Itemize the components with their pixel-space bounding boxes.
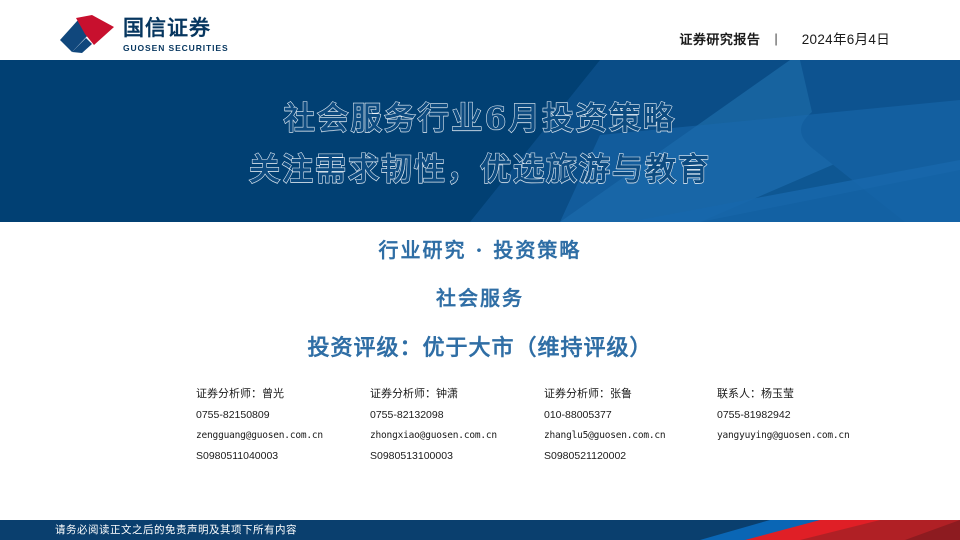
investment-rating-label: 投资评级：优于大市（维持评级） <box>0 330 960 362</box>
report-date: 2024年6月4日 <box>802 28 890 48</box>
page-footer: 请务必阅读正文之后的免责声明及其项下所有内容 <box>0 520 960 540</box>
header-meta: 证券研究报告 | 2024年6月4日 <box>679 28 890 48</box>
brand-logo: 国信证券 GUOSEN SECURITIES <box>58 14 229 54</box>
research-category-line: 行业研究 · 投资策略 <box>0 234 960 263</box>
analyst-email[interactable]: zhanglu5@guosen.com.cn <box>544 430 717 441</box>
analyst-phone: 0755-82150809 <box>196 409 370 421</box>
contact-email[interactable]: yangyuying@guosen.com.cn <box>717 430 891 441</box>
banner-title-line1: 社会服务行业6月投资策略 <box>284 93 677 138</box>
footer-disclaimer: 请务必阅读正文之后的免责声明及其项下所有内容 <box>55 520 297 540</box>
report-type-label: 证券研究报告 <box>679 29 760 48</box>
analyst-name: 证券分析师：张鲁 <box>544 385 717 401</box>
brand-name-cn: 国信证券 <box>123 17 229 39</box>
contact-name: 联系人：杨玉莹 <box>717 385 891 401</box>
contact-phone: 0755-81982942 <box>717 409 891 421</box>
analyst-name: 证券分析师：曾光 <box>196 385 370 401</box>
guosen-chevron-mark-icon <box>58 14 116 54</box>
analyst-name: 证券分析师：钟潇 <box>370 385 544 401</box>
analyst-email[interactable]: zengguang@guosen.com.cn <box>196 430 370 441</box>
report-meta-block: 行业研究 · 投资策略 社会服务 投资评级：优于大市（维持评级） <box>0 234 960 362</box>
sector-label: 社会服务 <box>0 282 960 311</box>
analyst-license: S0980511040003 <box>196 450 370 462</box>
analyst-column: 证券分析师：曾光 0755-82150809 zengguang@guosen.… <box>196 385 370 462</box>
title-banner: 社会服务行业6月投资策略 关注需求韧性，优选旅游与教育 <box>0 60 960 222</box>
banner-title-line2: 关注需求韧性，优选旅游与教育 <box>249 144 711 189</box>
analyst-phone: 010-88005377 <box>544 409 717 421</box>
brand-name-en: GUOSEN SECURITIES <box>123 43 229 53</box>
page-header: 国信证券 GUOSEN SECURITIES 证券研究报告 | 2024年6月4… <box>0 0 960 60</box>
banner-title-group: 社会服务行业6月投资策略 关注需求韧性，优选旅游与教育 <box>0 60 960 222</box>
analyst-license: S0980521120002 <box>544 450 717 462</box>
analyst-phone: 0755-82132098 <box>370 409 544 421</box>
analyst-email[interactable]: zhongxiao@guosen.com.cn <box>370 430 544 441</box>
header-divider: | <box>774 31 777 46</box>
analyst-column: 联系人：杨玉莹 0755-81982942 yangyuying@guosen.… <box>717 385 891 462</box>
analyst-column: 证券分析师：钟潇 0755-82132098 zhongxiao@guosen.… <box>370 385 544 462</box>
analyst-column: 证券分析师：张鲁 010-88005377 zhanglu5@guosen.co… <box>544 385 717 462</box>
brand-logo-text: 国信证券 GUOSEN SECURITIES <box>123 15 229 52</box>
analyst-contact-block: 证券分析师：曾光 0755-82150809 zengguang@guosen.… <box>196 385 896 462</box>
analyst-license: S0980513100003 <box>370 450 544 462</box>
